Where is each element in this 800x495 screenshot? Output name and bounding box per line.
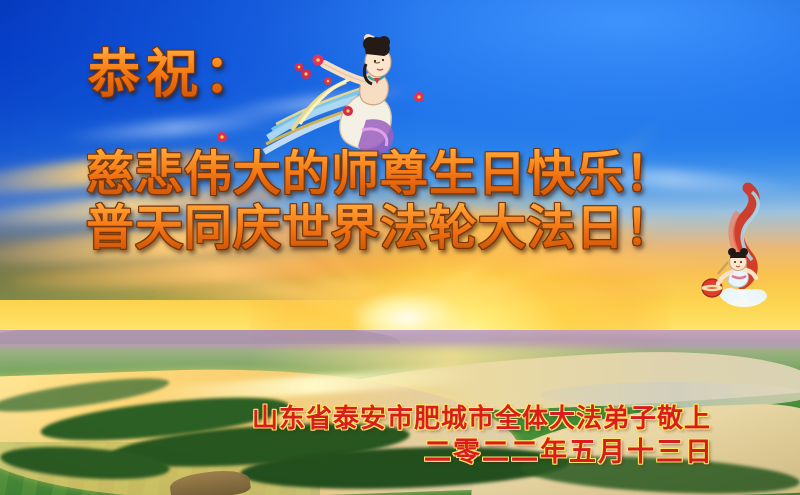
greeting-poster: 恭祝： 慈悲伟大的师尊生日快乐！ 普天同庆世界法轮大法日！ 山东省泰安市肥城市全…	[0, 0, 800, 495]
plum-blossom-icon	[342, 102, 354, 114]
headline-line-1: 恭祝：	[88, 32, 262, 107]
plum-blossom-icon	[413, 88, 425, 100]
headline-line-3: 普天同庆世界法轮大法日！	[86, 188, 674, 258]
plum-blossom-icon	[293, 58, 305, 70]
plum-blossom-icon	[322, 72, 334, 84]
celestial-child-icon	[694, 182, 790, 312]
signature-date: 二零二二年五月十三日	[424, 430, 714, 469]
